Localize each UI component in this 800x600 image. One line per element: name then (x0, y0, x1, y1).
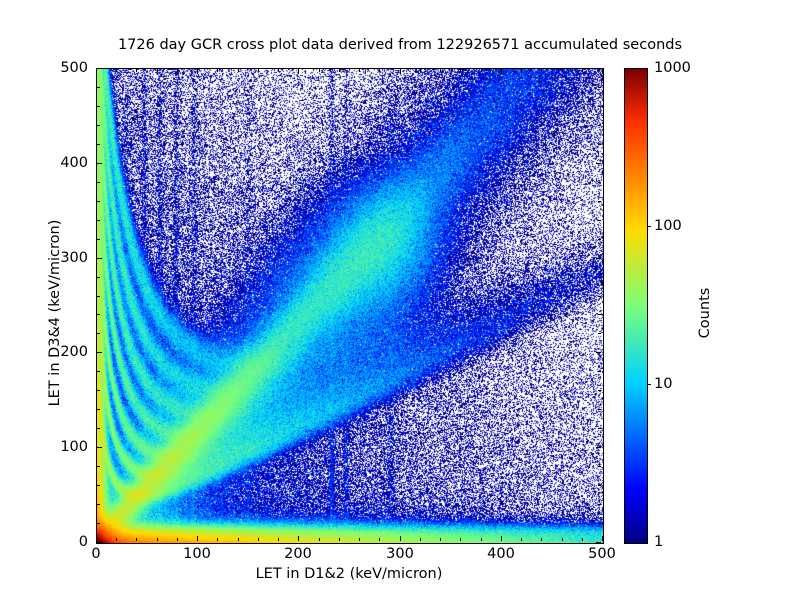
x-minor-tick (359, 69, 360, 72)
y-minor-tick (598, 371, 601, 372)
x-minor-tick (541, 69, 542, 72)
x-minor-tick (420, 69, 421, 72)
colorbar-title: Counts (697, 203, 713, 423)
x-major-tick (400, 69, 401, 74)
x-minor-tick (177, 69, 178, 72)
y-minor-tick (97, 409, 100, 410)
x-minor-tick (319, 538, 320, 541)
x-minor-tick (420, 538, 421, 541)
x-minor-tick (238, 538, 239, 541)
y-major-tick (97, 352, 102, 353)
x-tick-label: 300 (386, 546, 414, 562)
y-minor-tick (598, 390, 601, 391)
x-minor-tick (562, 538, 563, 541)
y-minor-tick (97, 390, 100, 391)
y-minor-tick (598, 466, 601, 467)
y-minor-tick (97, 277, 100, 278)
y-minor-tick (97, 333, 100, 334)
x-minor-tick (258, 69, 259, 72)
y-major-tick (596, 542, 601, 543)
x-tick-label: 500 (588, 546, 616, 562)
colorbar-gradient (625, 69, 647, 543)
x-minor-tick (238, 69, 239, 72)
x-axis-title: LET in D1&2 (keV/micron) (96, 566, 602, 582)
x-major-tick (197, 536, 198, 541)
y-minor-tick (598, 125, 601, 126)
x-minor-tick (440, 69, 441, 72)
y-major-tick (596, 447, 601, 448)
y-major-tick (596, 352, 601, 353)
x-minor-tick (319, 69, 320, 72)
x-minor-tick (177, 538, 178, 541)
x-minor-tick (157, 538, 158, 541)
y-major-tick (97, 68, 102, 69)
x-major-tick (197, 69, 198, 74)
y-major-tick (97, 542, 102, 543)
y-major-tick (596, 68, 601, 69)
x-minor-tick (217, 69, 218, 72)
x-major-tick (501, 69, 502, 74)
x-minor-tick (258, 538, 259, 541)
y-minor-tick (97, 125, 100, 126)
x-major-tick (501, 536, 502, 541)
y-minor-tick (97, 296, 100, 297)
title-line-1: 1726 day GCR cross plot data derived fro… (0, 36, 800, 54)
y-minor-tick (598, 428, 601, 429)
colorbar-tick-label: 1 (654, 534, 663, 550)
y-major-tick (596, 163, 601, 164)
x-minor-tick (278, 538, 279, 541)
y-minor-tick (598, 201, 601, 202)
y-minor-tick (97, 523, 100, 524)
x-tick-label: 100 (183, 546, 211, 562)
y-minor-tick (598, 409, 601, 410)
x-minor-tick (278, 69, 279, 72)
y-minor-tick (598, 220, 601, 221)
x-major-tick (298, 69, 299, 74)
y-minor-tick (97, 428, 100, 429)
y-minor-tick (598, 314, 601, 315)
x-minor-tick (379, 69, 380, 72)
y-minor-tick (598, 485, 601, 486)
colorbar-tick-label: 10 (654, 376, 672, 392)
figure-canvas: 1726 day GCR cross plot data derived fro… (0, 0, 800, 600)
x-minor-tick (136, 69, 137, 72)
y-minor-tick (97, 504, 100, 505)
y-minor-tick (97, 144, 100, 145)
y-major-tick (596, 258, 601, 259)
x-minor-tick (116, 538, 117, 541)
plot-area (96, 68, 604, 544)
x-minor-tick (481, 69, 482, 72)
colorbar-tick-label: 100 (654, 218, 682, 234)
y-minor-tick (598, 239, 601, 240)
y-minor-tick (598, 504, 601, 505)
x-minor-tick (379, 538, 380, 541)
x-major-tick (298, 536, 299, 541)
x-major-tick (96, 536, 97, 541)
y-tick-label: 0 (48, 534, 88, 550)
y-minor-tick (598, 277, 601, 278)
y-minor-tick (97, 201, 100, 202)
y-minor-tick (598, 106, 601, 107)
x-major-tick (602, 536, 603, 541)
y-minor-tick (598, 182, 601, 183)
y-major-tick (97, 163, 102, 164)
x-minor-tick (481, 538, 482, 541)
y-minor-tick (97, 485, 100, 486)
x-minor-tick (157, 69, 158, 72)
y-minor-tick (97, 182, 100, 183)
x-minor-tick (440, 538, 441, 541)
x-tick-label: 0 (91, 546, 100, 562)
y-axis-title: LET in D3&4 (keV/micron) (47, 163, 63, 463)
y-minor-tick (598, 296, 601, 297)
x-minor-tick (582, 538, 583, 541)
x-minor-tick (521, 538, 522, 541)
y-minor-tick (97, 87, 100, 88)
y-minor-tick (97, 220, 100, 221)
x-major-tick (602, 69, 603, 74)
y-minor-tick (97, 239, 100, 240)
x-minor-tick (339, 538, 340, 541)
x-minor-tick (136, 538, 137, 541)
y-major-tick (97, 258, 102, 259)
colorbar-tick (647, 384, 651, 385)
x-minor-tick (339, 69, 340, 72)
x-minor-tick (582, 69, 583, 72)
x-minor-tick (460, 69, 461, 72)
colorbar-tick-label: 1000 (654, 60, 691, 76)
x-minor-tick (541, 538, 542, 541)
y-minor-tick (598, 87, 601, 88)
y-tick-label: 500 (48, 60, 88, 76)
x-minor-tick (116, 69, 117, 72)
y-minor-tick (97, 314, 100, 315)
y-minor-tick (97, 466, 100, 467)
y-minor-tick (97, 106, 100, 107)
colorbar (624, 68, 648, 544)
x-minor-tick (562, 69, 563, 72)
x-minor-tick (217, 538, 218, 541)
x-major-tick (96, 69, 97, 74)
x-minor-tick (359, 538, 360, 541)
x-tick-label: 200 (284, 546, 312, 562)
x-tick-label: 400 (487, 546, 515, 562)
y-minor-tick (598, 333, 601, 334)
x-major-tick (400, 536, 401, 541)
y-minor-tick (598, 523, 601, 524)
y-minor-tick (598, 144, 601, 145)
colorbar-tick (647, 226, 651, 227)
x-minor-tick (460, 538, 461, 541)
x-minor-tick (521, 69, 522, 72)
density-scatter-plot (97, 69, 603, 543)
y-minor-tick (97, 371, 100, 372)
y-major-tick (97, 447, 102, 448)
